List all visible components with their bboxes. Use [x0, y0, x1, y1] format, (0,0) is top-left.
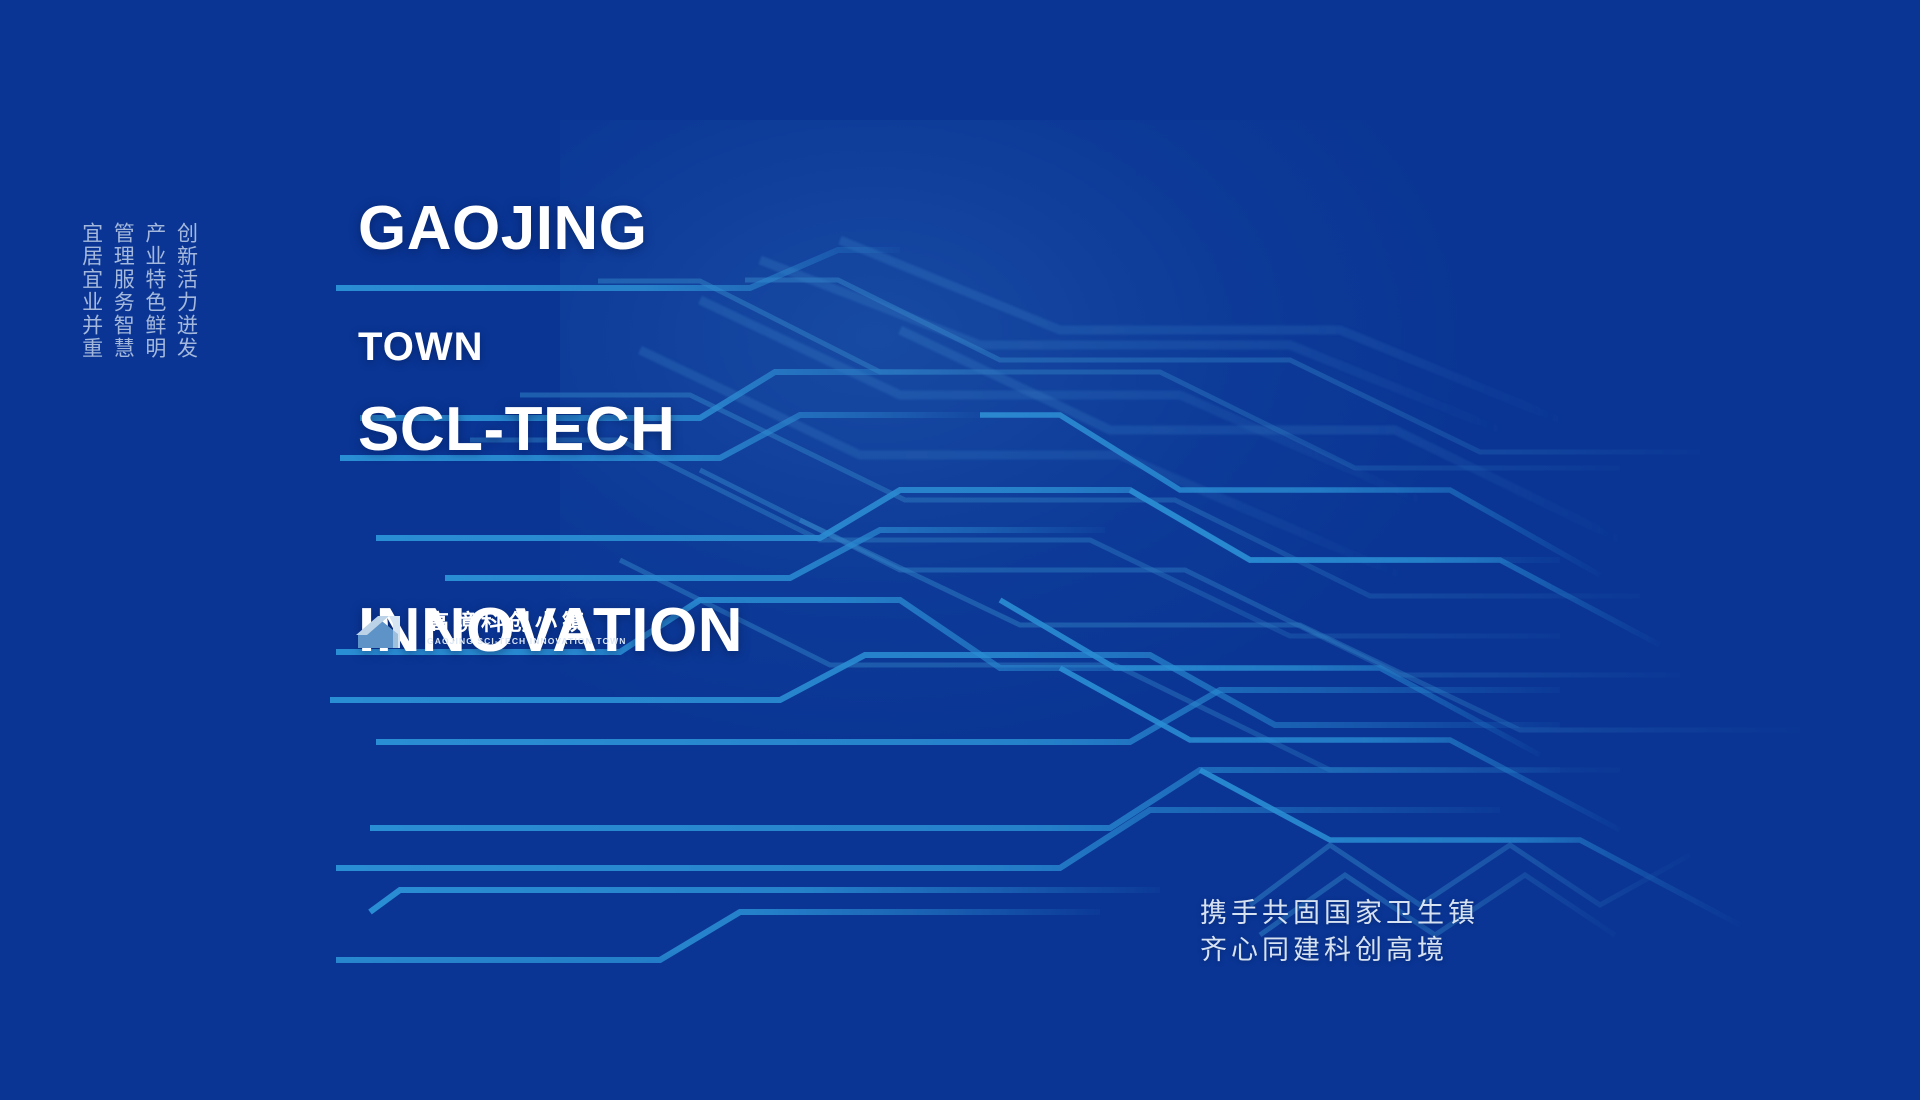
- circuit-trace-background: [0, 0, 1920, 1100]
- vertical-slogan: 创新活力迸发 产业特色鲜明 管理服务智慧 宜居宜业并重: [78, 222, 198, 360]
- headline-line-1: GAOJING: [358, 196, 743, 263]
- poster-canvas: GAOJING SCL-TECH INNOVATION TOWN 创新活力迸发 …: [0, 0, 1920, 1100]
- headline-line-4: TOWN: [358, 325, 483, 370]
- bottom-slogan-line-2: 齐心同建科创高境: [1200, 932, 1479, 969]
- vertical-slogan-column-1: 创新活力迸发: [173, 222, 199, 360]
- bottom-slogan: 携手共固国家卫生镇 齐心同建科创高境: [1200, 895, 1479, 970]
- vertical-slogan-column-4: 宜居宜业并重: [78, 222, 104, 360]
- logo-name-cn: 高境科创小镇: [427, 613, 627, 635]
- vertical-slogan-column-2: 产业特色鲜明: [141, 222, 167, 360]
- logo-name-en: GAOJING SCI-TECH INNOVATION TOWN: [427, 637, 627, 646]
- house-roof-icon: [356, 608, 416, 650]
- page-title: GAOJING SCL-TECH INNOVATION: [358, 62, 743, 798]
- logo-lockup: 高境科创小镇 GAOJING SCI-TECH INNOVATION TOWN: [356, 608, 627, 650]
- bottom-slogan-line-1: 携手共固国家卫生镇: [1200, 895, 1479, 932]
- vertical-slogan-column-3: 管理服务智慧: [110, 222, 136, 360]
- logo-text-block: 高境科创小镇 GAOJING SCI-TECH INNOVATION TOWN: [427, 613, 627, 646]
- headline-line-2: SCL-TECH: [358, 397, 743, 464]
